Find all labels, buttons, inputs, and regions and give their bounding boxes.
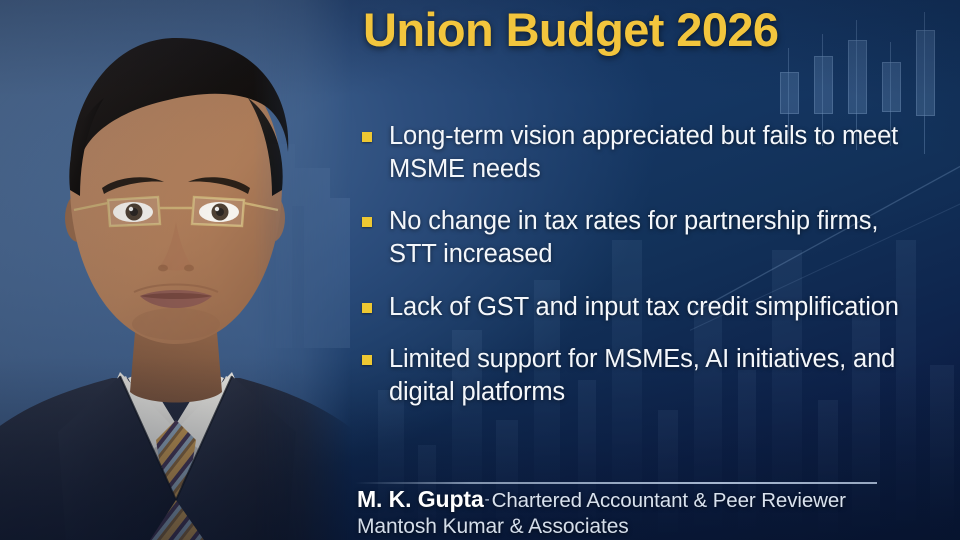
square-bullet-icon (362, 132, 372, 142)
list-item-label: Limited support for MSMEs, AI initiative… (389, 343, 922, 409)
key-points-list: Long-term vision appreciated but fails t… (362, 120, 922, 428)
square-bullet-icon (362, 355, 372, 365)
page-title: Union Budget 2026 (363, 2, 778, 57)
speaker-role: Chartered Accountant & Peer Reviewer (492, 489, 846, 512)
speaker-firm: Mantosh Kumar & Associates (357, 514, 917, 539)
list-item-label: No change in tax rates for partnership f… (389, 205, 922, 271)
list-item-label: Lack of GST and input tax credit simplif… (389, 291, 899, 324)
square-bullet-icon (362, 303, 372, 313)
list-item: Limited support for MSMEs, AI initiative… (362, 343, 922, 409)
list-item: Long-term vision appreciated but fails t… (362, 120, 922, 186)
speaker-attribution: M. K. Gupta-Chartered Accountant & Peer … (357, 486, 917, 539)
square-bullet-icon (362, 217, 372, 227)
speaker-name: M. K. Gupta (357, 486, 484, 512)
list-item: Lack of GST and input tax credit simplif… (362, 291, 922, 324)
list-item: No change in tax rates for partnership f… (362, 205, 922, 271)
name-role-separator: - (484, 491, 492, 508)
list-item-label: Long-term vision appreciated but fails t… (389, 120, 922, 186)
footer-divider (355, 482, 877, 484)
news-lower-third-slide: Union Budget 2026 Long-term vision appre… (0, 0, 960, 540)
